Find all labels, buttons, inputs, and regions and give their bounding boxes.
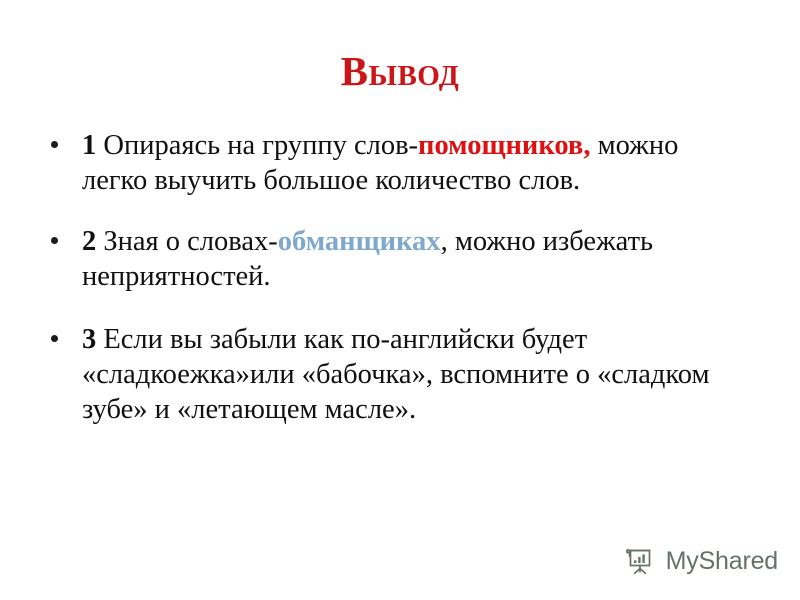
highlighted-term-deceiver-words: обманщиках — [278, 226, 441, 257]
list-item-number: 2 — [82, 226, 103, 257]
bullet-dot-icon — [51, 141, 58, 148]
conclusion-bullet-list: 1 Опираясь на группу слов-помощников, мо… — [40, 128, 740, 427]
title-container: Вывод — [0, 48, 800, 94]
list-item: 3 Если вы забыли как по-английски будет … — [40, 322, 740, 427]
list-item: 1 Опираясь на группу слов-помощников, мо… — [40, 128, 740, 198]
highlighted-term-helper-words: помощников, — [418, 130, 590, 161]
watermark-label: MyShared — [666, 549, 778, 574]
bullet-dot-icon — [51, 237, 58, 244]
list-item: 2 Зная о словах-обманщиках, можно избежа… — [40, 224, 740, 294]
page-title: Вывод — [341, 48, 460, 94]
flipchart-bar-chart-icon — [623, 544, 657, 578]
list-item-text-part: Опираясь на группу слов- — [103, 130, 418, 161]
list-item-text-part: Если вы забыли как по-английски будет «с… — [82, 324, 710, 425]
list-item-number: 3 — [82, 324, 103, 355]
bullet-dot-icon — [51, 335, 58, 342]
slide-canvas: Вывод 1 Опираясь на группу слов-помощник… — [0, 0, 800, 600]
list-item-number: 1 — [82, 130, 103, 161]
watermark: MyShared — [623, 544, 778, 578]
list-item-text-part: Зная о словах- — [103, 226, 277, 257]
